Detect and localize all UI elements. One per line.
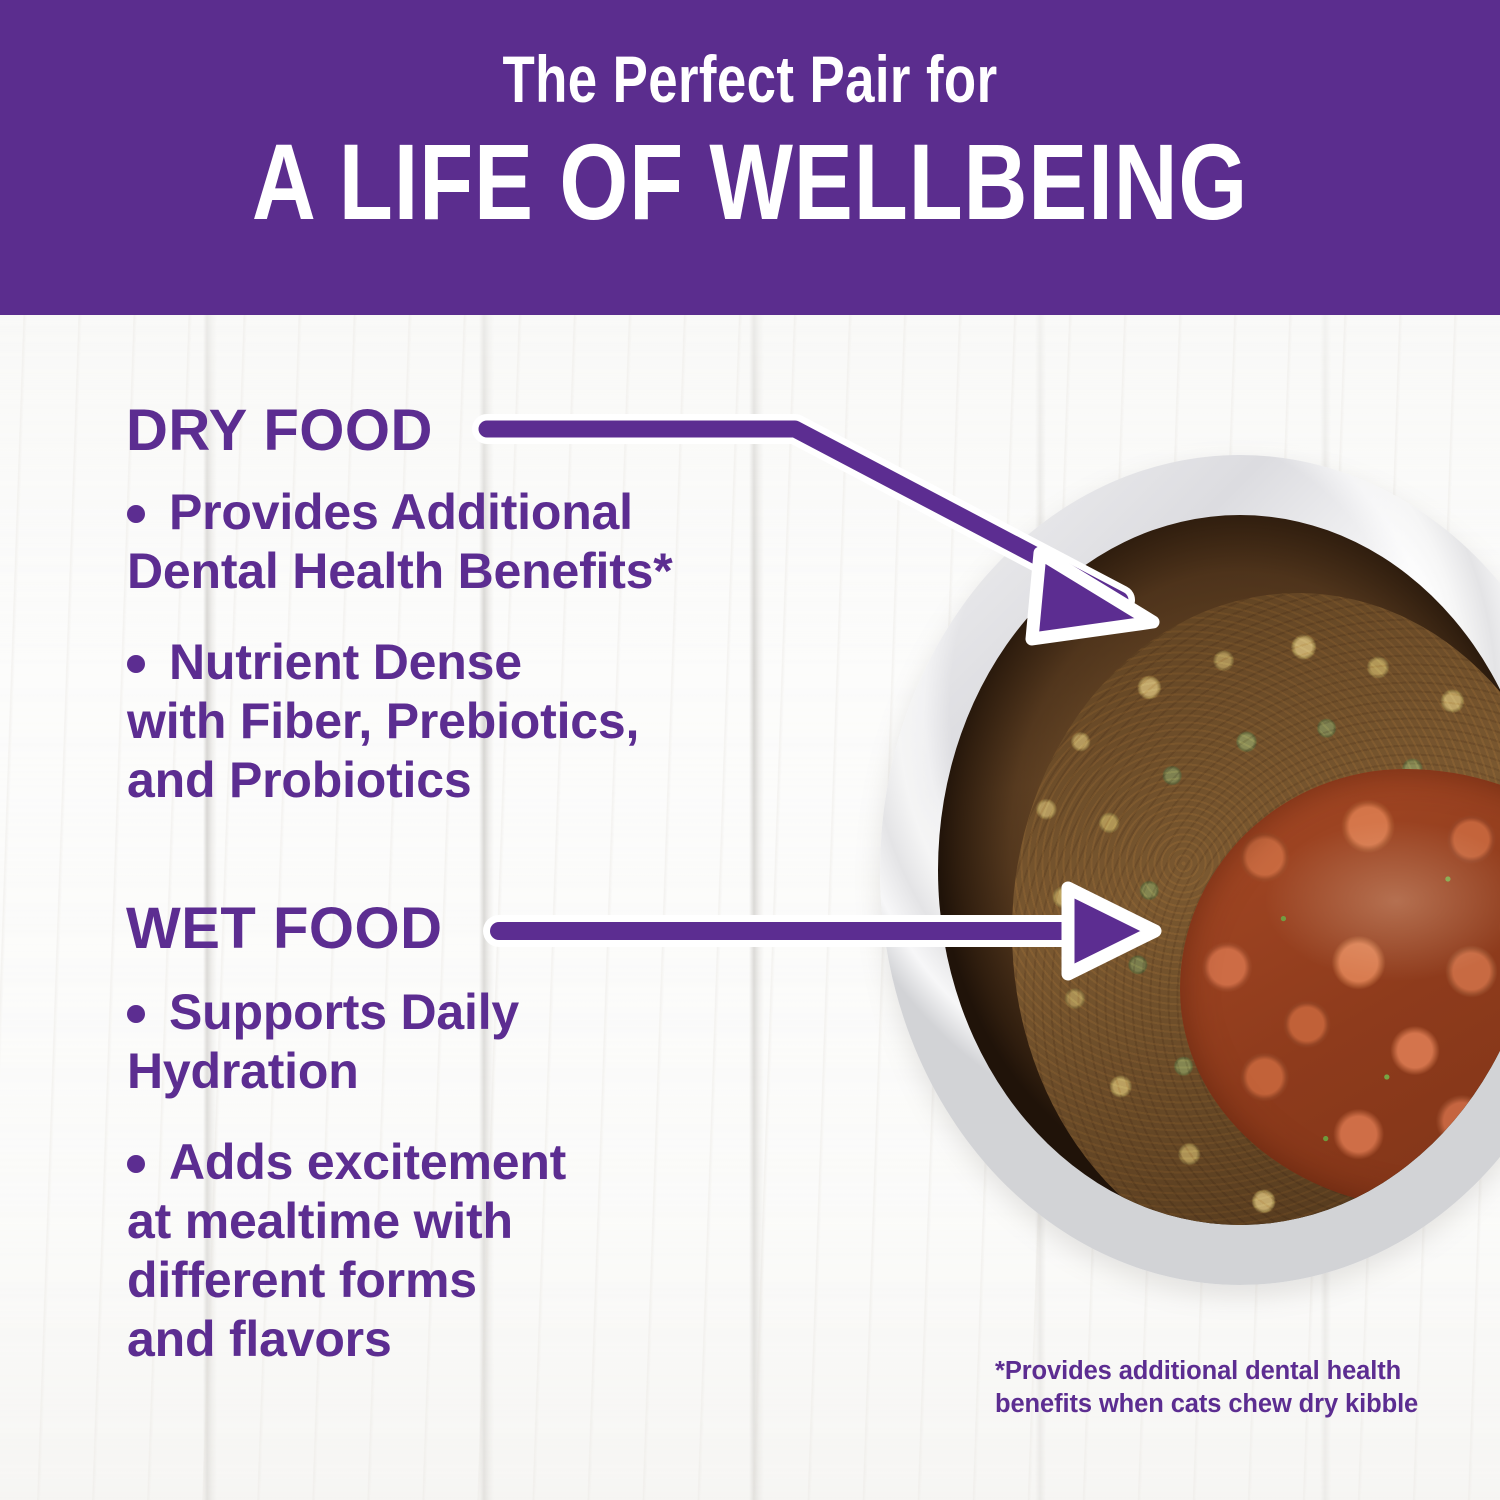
footnote-disclaimer: *Provides additional dental health benef… bbox=[995, 1355, 1465, 1420]
section-title-wet-food: WET FOOD bbox=[126, 900, 443, 958]
header-banner: The Perfect Pair for A LIFE OF WELLBEING bbox=[0, 0, 1500, 315]
bullet-wet-1-line-1: Supports Daily bbox=[127, 983, 519, 1042]
bullet-dry-1: Provides Additional Dental Health Benefi… bbox=[127, 483, 673, 601]
infographic-root: The Perfect Pair for A LIFE OF WELLBEING bbox=[0, 0, 1500, 1500]
bullet-dry-2-line-1: Nutrient Dense bbox=[127, 633, 639, 692]
bullet-dry-1-line-2: Dental Health Benefits* bbox=[127, 542, 673, 601]
benefits-text-column: DRY FOOD Provides Additional Dental Heal… bbox=[0, 315, 880, 1500]
dry-kibble bbox=[1012, 593, 1500, 1225]
bowl-interior bbox=[938, 515, 1500, 1225]
header-text-group: The Perfect Pair for A LIFE OF WELLBEING bbox=[0, 0, 1500, 236]
bullet-wet-2-line-1: Adds excitement bbox=[127, 1133, 566, 1192]
footnote-line-2: benefits when cats chew dry kibble bbox=[995, 1388, 1465, 1421]
bullet-wet-2-line-4: and flavors bbox=[127, 1310, 566, 1369]
bullet-dry-2: Nutrient Dense with Fiber, Prebiotics, a… bbox=[127, 633, 639, 810]
bullet-wet-1-line-2: Hydration bbox=[127, 1042, 519, 1101]
footnote-line-1: *Provides additional dental health bbox=[995, 1355, 1465, 1388]
bullet-dot-icon bbox=[127, 655, 145, 673]
section-title-dry-food: DRY FOOD bbox=[126, 402, 433, 460]
bullet-dot-icon bbox=[127, 1005, 145, 1023]
bullet-wet-2-line-2: at mealtime with bbox=[127, 1192, 566, 1251]
bullet-dry-1-line-1: Provides Additional bbox=[127, 483, 673, 542]
bullet-dot-icon bbox=[127, 505, 145, 523]
header-headline: A LIFE OF WELLBEING bbox=[135, 112, 1365, 236]
pet-food-bowl-image bbox=[880, 455, 1500, 1285]
bullet-wet-1: Supports Daily Hydration bbox=[127, 983, 519, 1101]
bullet-dry-2-line-3: and Probiotics bbox=[127, 751, 639, 810]
header-eyebrow: The Perfect Pair for bbox=[150, 0, 1350, 112]
bullet-dry-2-line-2: with Fiber, Prebiotics, bbox=[127, 692, 639, 751]
bullet-wet-2: Adds excitement at mealtime with differe… bbox=[127, 1133, 566, 1369]
bullet-wet-2-line-3: different forms bbox=[127, 1251, 566, 1310]
bullet-dot-icon bbox=[127, 1155, 145, 1173]
